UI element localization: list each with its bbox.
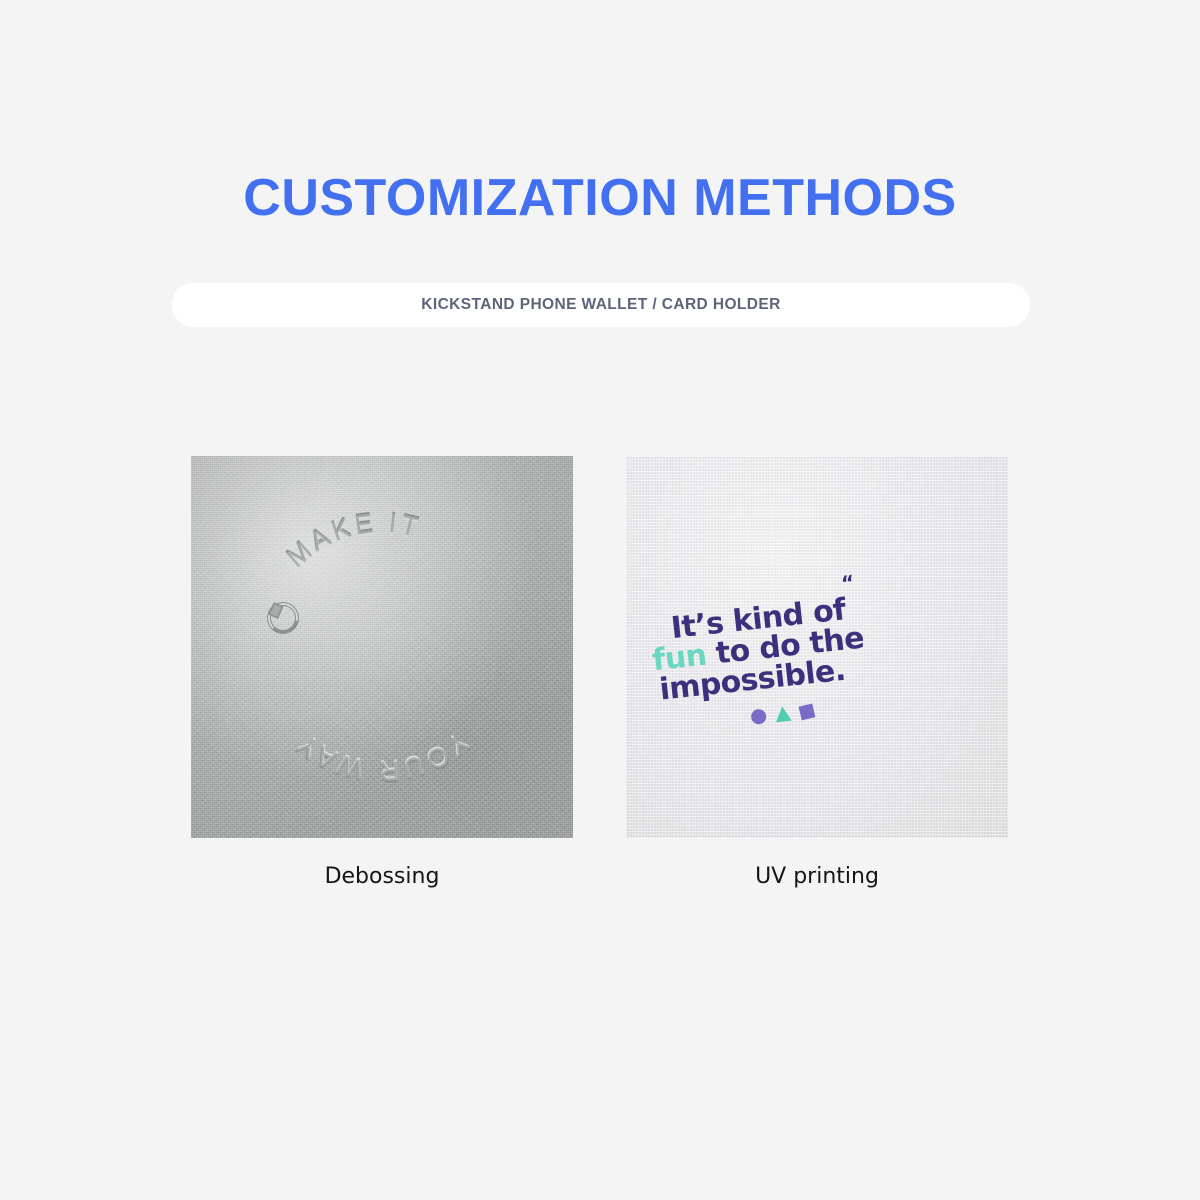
methods-gallery: MAKE IT MAKE IT MAKE IT YOUR WAY [0,456,1200,916]
circle-shape-icon [750,708,767,725]
triangle-shape-icon [774,706,792,723]
svg-text:YOUR WAY: YOUR WAY [289,727,475,786]
quote-text-block: It’s kind of fun to do the impossible. [648,581,986,706]
uv-printing-sample-image: “ It’s kind of fun to do the impossible. [626,456,1008,838]
square-shape-icon [799,704,816,721]
page-title: CUSTOMIZATION METHODS [0,172,1200,224]
product-name-pill: KICKSTAND PHONE WALLET / CARD HOLDER [172,283,1030,327]
method-caption-debossing: Debossing [191,864,573,890]
product-name-label: KICKSTAND PHONE WALLET / CARD HOLDER [421,296,780,314]
brand-circle-flag-icon [263,598,303,638]
method-card-uv-printing: “ It’s kind of fun to do the impossible. [626,456,1008,890]
product-customization-page: CUSTOMIZATION METHODS KICKSTAND PHONE WA… [0,0,1200,1200]
method-card-debossing: MAKE IT MAKE IT MAKE IT YOUR WAY [191,456,573,890]
method-caption-uv-printing: UV printing [626,864,1008,890]
debossing-sample-image: MAKE IT MAKE IT MAKE IT YOUR WAY [191,456,573,838]
debossed-circular-text: MAKE IT MAKE IT MAKE IT YOUR WAY [248,513,516,781]
